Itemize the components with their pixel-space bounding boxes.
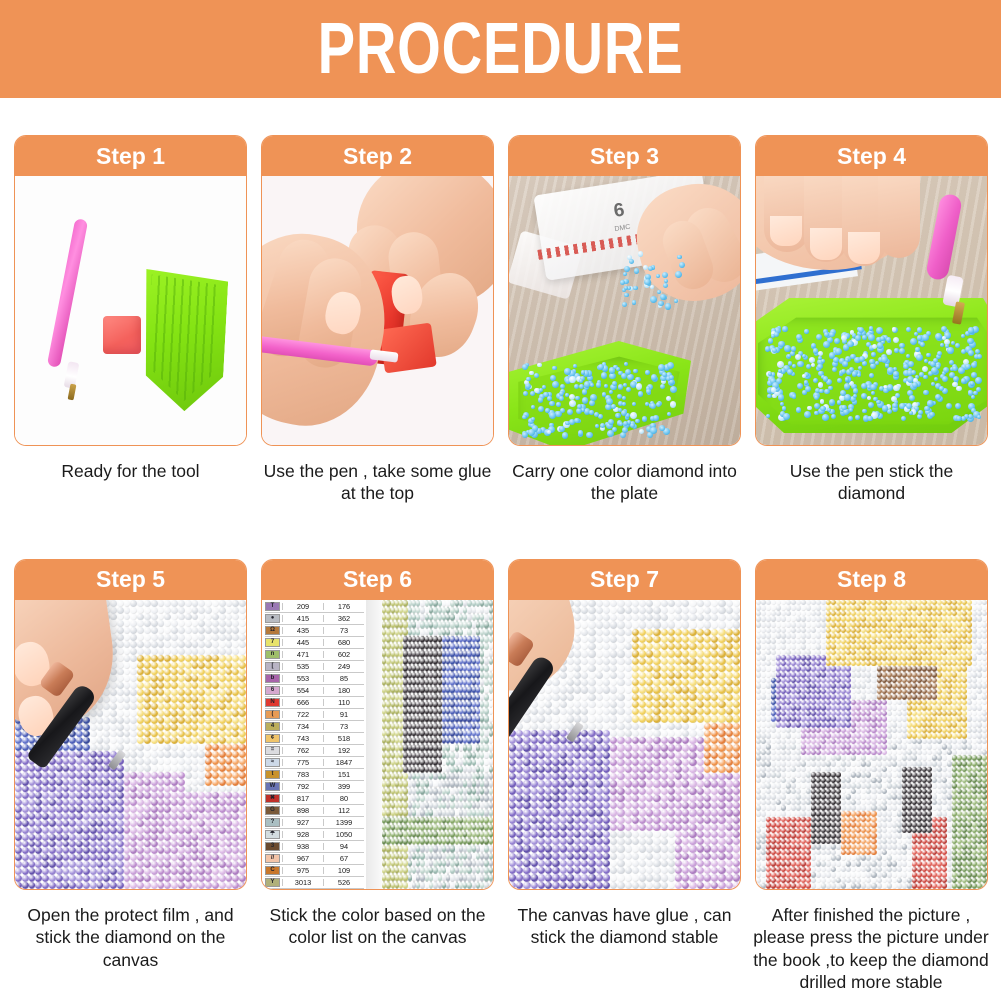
mosaic-bead xyxy=(22,868,29,875)
mosaic-bead xyxy=(661,600,668,607)
mosaic-bead xyxy=(625,824,632,831)
legend-row: Y3013526 xyxy=(265,877,364,889)
mosaic-bead xyxy=(596,607,603,614)
mosaic-bead xyxy=(239,765,246,772)
mosaic-bead xyxy=(639,737,646,744)
mosaic-bead xyxy=(205,724,212,731)
mosaic-bead xyxy=(489,621,493,628)
mosaic-bead xyxy=(552,853,559,860)
mosaic-bead xyxy=(704,744,711,751)
mosaic-bead xyxy=(63,827,70,834)
mosaic-bead xyxy=(151,614,158,621)
mosaic-bead xyxy=(198,641,205,648)
mosaic-bead xyxy=(646,838,653,845)
mosaic-bead xyxy=(887,622,892,628)
mosaic-bead xyxy=(704,665,711,672)
mosaic-bead xyxy=(632,737,639,744)
mosaic-bead xyxy=(403,766,407,773)
mosaic-bead xyxy=(509,809,516,816)
mosaic-bead xyxy=(726,845,733,852)
step-card-5[interactable]: Step 5 xyxy=(14,559,247,890)
mosaic-bead xyxy=(130,841,137,848)
mosaic-bead xyxy=(653,650,660,657)
mosaic-bead xyxy=(646,795,653,802)
mosaic-bead xyxy=(151,669,158,676)
mosaic-bead xyxy=(130,724,137,731)
mosaic-bead xyxy=(646,766,653,773)
mosaic-bead xyxy=(130,710,137,717)
mosaic-bead xyxy=(232,662,239,669)
mosaic-bead xyxy=(726,752,733,759)
mosaic-bead xyxy=(718,874,725,881)
mosaic-bead xyxy=(192,655,199,662)
mosaic-bead xyxy=(69,820,76,827)
mosaic-bead xyxy=(124,861,131,868)
mosaic-bead xyxy=(158,834,165,841)
mosaic-bead xyxy=(625,658,632,665)
mosaic-bead xyxy=(144,827,151,834)
mosaic-bead xyxy=(171,641,178,648)
step-card-1[interactable]: Step 1 xyxy=(14,135,247,446)
mosaic-bead xyxy=(42,834,49,841)
mosaic-bead xyxy=(219,724,226,731)
mosaic-bead xyxy=(239,751,246,758)
mosaic-bead xyxy=(704,701,711,708)
mosaic-bead xyxy=(733,672,740,679)
mosaic-bead xyxy=(610,708,617,715)
mosaic-bead xyxy=(668,614,675,621)
mosaic-bead xyxy=(205,662,212,669)
mosaic-bead xyxy=(403,752,407,759)
legend-symbol-swatch: ≈ xyxy=(265,758,280,767)
mosaic-bead xyxy=(171,744,178,751)
mosaic-bead xyxy=(552,882,559,889)
mosaic-bead xyxy=(97,786,104,793)
mosaic-bead xyxy=(450,759,454,766)
mosaic-bead xyxy=(403,650,407,657)
mosaic-bead xyxy=(617,658,624,665)
mosaic-bead xyxy=(185,737,192,744)
mosaic-bead xyxy=(63,751,70,758)
mosaic-bead xyxy=(226,717,233,724)
mosaic-bead xyxy=(617,759,624,766)
mosaic-bead xyxy=(567,773,574,780)
mosaic-bead xyxy=(232,710,239,717)
mosaic-bead xyxy=(144,669,151,676)
mosaic-bead xyxy=(29,820,36,827)
mosaic-bead xyxy=(117,607,124,614)
mosaic-bead xyxy=(124,737,131,744)
mosaic-bead xyxy=(198,600,205,607)
mosaic-bead xyxy=(144,634,151,641)
mosaic-bead xyxy=(588,701,595,708)
mosaic-bead xyxy=(711,817,718,824)
mosaic-bead xyxy=(158,634,165,641)
mosaic-bead xyxy=(124,717,131,724)
mosaic-bead xyxy=(682,744,689,751)
mosaic-bead xyxy=(90,854,97,861)
mosaic-bead xyxy=(733,853,740,860)
mosaic-bead xyxy=(617,679,624,686)
mosaic-bead xyxy=(137,710,144,717)
step-card-4[interactable]: Step 4 xyxy=(755,135,988,446)
mosaic-bead xyxy=(90,834,97,841)
mosaic-bead xyxy=(682,643,689,650)
mosaic-bead xyxy=(726,614,733,621)
mosaic-bead xyxy=(49,772,56,779)
mosaic-bead xyxy=(603,614,610,621)
mosaic-bead xyxy=(596,860,603,867)
mosaic-bead xyxy=(697,665,704,672)
mosaic-bead xyxy=(192,847,199,854)
step-cell-8: Step 8 After finished the picture , plea… xyxy=(755,559,988,994)
mosaic-bead xyxy=(198,634,205,641)
mosaic-bead xyxy=(697,773,704,780)
mosaic-bead xyxy=(97,875,104,882)
mosaic-bead xyxy=(239,841,246,848)
mosaic-bead xyxy=(185,772,192,779)
mosaic-bead xyxy=(639,780,646,787)
mosaic-bead xyxy=(164,607,171,614)
mosaic-bead xyxy=(689,658,696,665)
mosaic-bead xyxy=(581,730,588,737)
mosaic-bead xyxy=(144,772,151,779)
mosaic-bead xyxy=(178,724,185,731)
mosaic-bead xyxy=(198,765,205,772)
mosaic-bead xyxy=(403,788,407,795)
mosaic-bead xyxy=(581,882,588,889)
mosaic-bead xyxy=(489,780,493,787)
mosaic-bead xyxy=(226,868,233,875)
mosaic-bead xyxy=(158,614,165,621)
legend-row: Ω43573 xyxy=(265,625,364,637)
mosaic-bead xyxy=(467,715,471,722)
mosaic-bead xyxy=(63,806,70,813)
mosaic-bead xyxy=(588,824,595,831)
mosaic-bead xyxy=(144,744,151,751)
step-card-7[interactable]: Step 7 xyxy=(508,559,741,890)
mosaic-bead xyxy=(239,710,246,717)
mosaic-bead xyxy=(726,744,733,751)
mosaic-bead xyxy=(661,723,668,730)
mosaic-bead xyxy=(83,834,90,841)
stick-diamond-illustration xyxy=(15,600,246,889)
mosaic-bead xyxy=(151,882,158,889)
mosaic-bead xyxy=(144,648,151,655)
mosaic-bead xyxy=(726,737,733,744)
mosaic-bead xyxy=(219,641,226,648)
mosaic-bead xyxy=(574,672,581,679)
mosaic-bead xyxy=(646,809,653,816)
mosaic-bead xyxy=(22,765,29,772)
mosaic-bead xyxy=(171,669,178,676)
step-image-8 xyxy=(756,600,987,889)
mosaic-bead xyxy=(574,773,581,780)
mosaic-bead xyxy=(63,861,70,868)
mosaic-bead xyxy=(137,662,144,669)
mosaic-bead xyxy=(433,874,437,881)
legend-symbol-swatch: [ xyxy=(265,662,280,671)
mosaic-bead xyxy=(192,834,199,841)
mosaic-bead xyxy=(646,867,653,874)
mosaic-bead xyxy=(545,701,552,708)
mosaic-bead xyxy=(560,817,567,824)
mosaic-bead xyxy=(205,648,212,655)
mosaic-bead xyxy=(56,751,63,758)
mosaic-bead xyxy=(76,786,83,793)
mosaic-bead xyxy=(581,679,588,686)
mosaic-bead xyxy=(63,854,70,861)
legend-color-code: 554 xyxy=(282,687,324,694)
mosaic-bead xyxy=(151,710,158,717)
step-card-8[interactable]: Step 8 xyxy=(755,559,988,890)
mosaic-bead xyxy=(531,824,538,831)
mosaic-bead xyxy=(668,817,675,824)
mosaic-bead xyxy=(668,867,675,874)
step-card-6[interactable]: Step 6 T209176●415362Ω435737445680n47160… xyxy=(261,559,494,890)
mosaic-bead xyxy=(711,643,718,650)
mosaic-bead xyxy=(239,662,246,669)
mosaic-bead xyxy=(239,827,246,834)
mosaic-bead xyxy=(171,662,178,669)
mosaic-bead xyxy=(450,715,454,722)
mosaic-bead xyxy=(49,765,56,772)
mosaic-bead xyxy=(661,643,668,650)
mosaic-bead xyxy=(523,824,530,831)
mosaic-bead xyxy=(185,786,192,793)
mosaic-bead xyxy=(232,792,239,799)
mosaic-bead xyxy=(137,779,144,786)
mosaic-bead xyxy=(192,799,199,806)
mosaic-bead xyxy=(29,772,36,779)
mosaic-bead xyxy=(617,752,624,759)
mosaic-bead xyxy=(588,853,595,860)
mosaic-bead xyxy=(726,867,733,874)
mosaic-bead xyxy=(697,744,704,751)
mosaic-bead xyxy=(144,675,151,682)
mosaic-bead xyxy=(689,686,696,693)
mosaic-bead xyxy=(103,827,110,834)
mosaic-bead xyxy=(581,752,588,759)
legend-color-code: 471 xyxy=(282,651,324,658)
mosaic-bead xyxy=(226,882,233,889)
mosaic-bead xyxy=(653,867,660,874)
mosaic-bead xyxy=(15,834,22,841)
mosaic-bead xyxy=(726,607,733,614)
mosaic-bead xyxy=(212,765,219,772)
mosaic-bead xyxy=(538,867,545,874)
mosaic-bead xyxy=(219,834,226,841)
mosaic-bead xyxy=(49,820,56,827)
mosaic-bead xyxy=(144,751,151,758)
mosaic-bead xyxy=(711,838,718,845)
mosaic-bead xyxy=(632,860,639,867)
mosaic-bead xyxy=(56,827,63,834)
mosaic-bead xyxy=(632,715,639,722)
mosaic-bead xyxy=(653,621,660,628)
mosaic-bead xyxy=(76,834,83,841)
mosaic-bead xyxy=(596,679,603,686)
mosaic-bead xyxy=(675,686,682,693)
mosaic-bead xyxy=(171,682,178,689)
mosaic-bead xyxy=(574,744,581,751)
mosaic-bead xyxy=(185,882,192,889)
mosaic-bead xyxy=(117,841,124,848)
mosaic-bead xyxy=(158,710,165,717)
mosaic-bead xyxy=(433,780,437,787)
mosaic-bead xyxy=(581,824,588,831)
mosaic-bead xyxy=(531,802,538,809)
mosaic-bead xyxy=(523,759,530,766)
mosaic-bead xyxy=(171,675,178,682)
mosaic-bead xyxy=(646,831,653,838)
mosaic-bead xyxy=(617,607,624,614)
mosaic-bead xyxy=(450,795,454,802)
mosaic-bead xyxy=(574,817,581,824)
mosaic-bead xyxy=(603,730,610,737)
red-glue-block-lower-icon xyxy=(379,323,437,374)
mosaic-bead xyxy=(151,854,158,861)
mosaic-bead xyxy=(632,838,639,845)
mosaic-bead xyxy=(450,737,454,744)
mosaic-bead xyxy=(226,875,233,882)
mosaic-bead xyxy=(646,686,653,693)
step-card-2[interactable]: Step 2 xyxy=(261,135,494,446)
mosaic-bead xyxy=(668,730,675,737)
mosaic-bead xyxy=(588,817,595,824)
mosaic-bead xyxy=(49,861,56,868)
mosaic-bead xyxy=(668,752,675,759)
mosaic-bead xyxy=(103,703,110,710)
mosaic-bead xyxy=(675,614,682,621)
mosaic-bead xyxy=(386,737,390,744)
mosaic-bead xyxy=(130,634,137,641)
mosaic-bead xyxy=(632,672,639,679)
mosaic-bead xyxy=(76,765,83,772)
mosaic-bead xyxy=(450,708,454,715)
step-card-3[interactable]: Step 3 6 DMC xyxy=(508,135,741,446)
step-header-label-1: Step 1 xyxy=(96,145,165,168)
mosaic-bead xyxy=(198,696,205,703)
mosaic-bead xyxy=(178,717,185,724)
mosaic-bead xyxy=(219,620,226,627)
mosaic-bead xyxy=(489,831,493,838)
mosaic-bead xyxy=(205,847,212,854)
mosaic-bead xyxy=(711,845,718,852)
mosaic-bead xyxy=(653,694,660,701)
mosaic-bead xyxy=(892,633,897,639)
mosaic-bead xyxy=(63,847,70,854)
mosaic-bead xyxy=(603,694,610,701)
mosaic-bead xyxy=(219,614,226,621)
mosaic-bead xyxy=(386,853,390,860)
mosaic-bead xyxy=(596,817,603,824)
mosaic-bead xyxy=(603,795,610,802)
mosaic-bead xyxy=(151,648,158,655)
mosaic-bead xyxy=(733,679,740,686)
mosaic-bead xyxy=(226,847,233,854)
mosaic-bead xyxy=(158,675,165,682)
mosaic-bead xyxy=(97,813,104,820)
mosaic-bead xyxy=(668,795,675,802)
mosaic-bead xyxy=(733,838,740,845)
mosaic-bead xyxy=(83,772,90,779)
mosaic-bead xyxy=(704,845,711,852)
mosaic-bead xyxy=(226,696,233,703)
mosaic-bead xyxy=(90,779,97,786)
mosaic-bead xyxy=(603,752,610,759)
mosaic-bead xyxy=(509,882,516,889)
legend-symbol-swatch: 3 xyxy=(265,842,280,851)
mosaic-bead xyxy=(144,792,151,799)
legend-count: 180 xyxy=(324,687,364,694)
step-header-7: Step 7 xyxy=(509,560,740,600)
legend-color-code: 967 xyxy=(282,855,324,862)
mosaic-bead xyxy=(130,847,137,854)
mosaic-bead xyxy=(567,759,574,766)
mosaic-bead xyxy=(192,737,199,744)
mosaic-bead xyxy=(718,715,725,722)
mosaic-bead xyxy=(588,773,595,780)
mosaic-bead xyxy=(83,799,90,806)
mosaic-bead xyxy=(581,853,588,860)
mosaic-bead xyxy=(726,838,733,845)
mosaic-bead xyxy=(219,772,226,779)
mosaic-bead xyxy=(198,620,205,627)
mosaic-bead xyxy=(668,838,675,845)
mosaic-bead xyxy=(697,600,704,607)
mosaic-bead xyxy=(117,792,124,799)
mosaic-bead xyxy=(625,817,632,824)
legend-color-code: 722 xyxy=(282,711,324,718)
legend-count: 110 xyxy=(324,699,364,706)
mosaic-bead xyxy=(697,715,704,722)
mosaic-bead xyxy=(226,737,233,744)
mosaic-bead xyxy=(552,744,559,751)
mosaic-bead xyxy=(531,773,538,780)
mosaic-bead xyxy=(711,679,718,686)
mosaic-bead xyxy=(581,874,588,881)
mosaic-bead xyxy=(711,809,718,816)
mosaic-bead xyxy=(588,874,595,881)
mosaic-bead xyxy=(124,882,131,889)
mosaic-bead xyxy=(574,600,581,607)
mosaic-bead xyxy=(151,820,158,827)
mosaic-bead xyxy=(137,731,144,738)
mosaic-bead xyxy=(164,641,171,648)
legend-symbol-swatch: C xyxy=(265,866,280,875)
mosaic-bead xyxy=(124,600,131,607)
mosaic-bead xyxy=(639,744,646,751)
mosaic-bead xyxy=(574,686,581,693)
mosaic-bead xyxy=(219,600,226,607)
mosaic-bead xyxy=(596,752,603,759)
mosaic-bead xyxy=(689,708,696,715)
mosaic-bead xyxy=(697,795,704,802)
mosaic-bead xyxy=(516,795,523,802)
mosaic-bead xyxy=(130,751,137,758)
mosaic-bead xyxy=(158,737,165,744)
mosaic-bead xyxy=(646,723,653,730)
mosaic-bead xyxy=(35,882,42,889)
mosaic-bead xyxy=(151,744,158,751)
mosaic-bead xyxy=(22,841,29,848)
mosaic-bead xyxy=(239,703,246,710)
mosaic-bead xyxy=(982,633,987,639)
mosaic-bead xyxy=(718,636,725,643)
mosaic-bead xyxy=(603,824,610,831)
mosaic-bead xyxy=(697,817,704,824)
